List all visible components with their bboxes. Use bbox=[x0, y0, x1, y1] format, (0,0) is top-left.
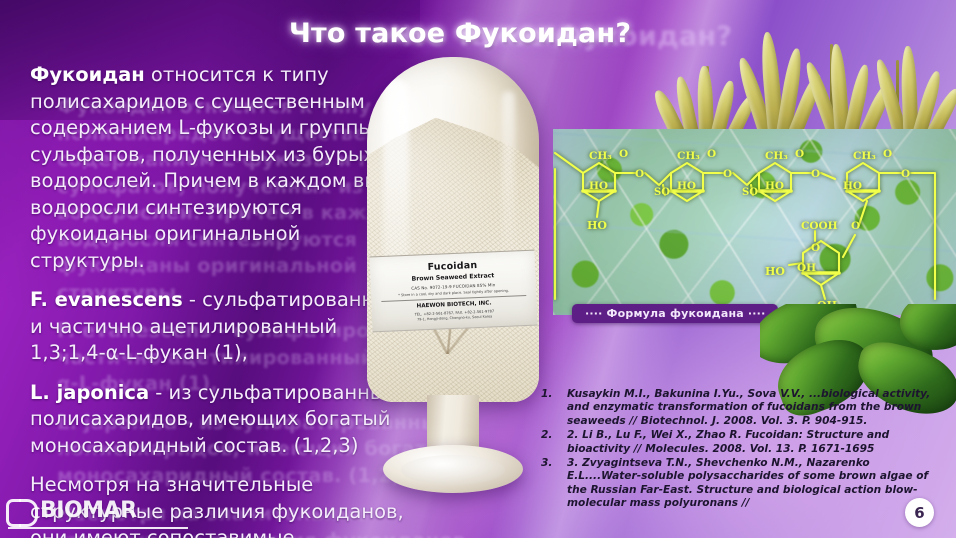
algae-microscopy-image: CH₃ O HO HO O SO CH₃ O HO O SO CH₃ O HO … bbox=[553, 129, 956, 315]
reference-item: 1. Kusaykin M.I., Bakunina I.Yu., Sova V… bbox=[537, 388, 937, 428]
jar-body bbox=[367, 57, 539, 402]
brown-seaweed-photo bbox=[640, 0, 956, 140]
atom-label-ho-6: HO bbox=[765, 265, 785, 278]
paragraph-0-text: относится к типу полисахаридов с существ… bbox=[30, 63, 403, 272]
reference-text: 2. Li B., Lu F., Wei X., Zhao R. Fucoida… bbox=[567, 429, 937, 456]
atom-label-so-2: SO bbox=[742, 187, 758, 198]
atom-label-o-7: O bbox=[883, 148, 892, 160]
atom-label-ho-5: HO bbox=[843, 180, 862, 192]
atom-label-o-2: O bbox=[635, 168, 644, 180]
biomar-watermark-text: BIOMAR bbox=[40, 498, 137, 523]
jar-highlight-right bbox=[502, 91, 515, 271]
biomar-logo-icon bbox=[6, 497, 38, 523]
page-title: Что такое Фукоидан? bbox=[289, 18, 631, 49]
jar-product-label: Fucoidan Brown Seaweed Extract CAS No. 9… bbox=[369, 250, 537, 333]
jar-foot-inner bbox=[401, 455, 505, 485]
atom-label-cooh: COOH bbox=[801, 220, 838, 232]
atom-label-o-4: O bbox=[723, 168, 732, 180]
atom-label-so-1: SO bbox=[654, 187, 670, 198]
atom-label-ch3-2: CH₃ bbox=[677, 150, 700, 162]
reference-number: 3. bbox=[537, 457, 567, 511]
atom-label-o-10: O bbox=[811, 242, 820, 254]
references-list: 1. Kusaykin M.I., Bakunina I.Yu., Sova V… bbox=[537, 388, 937, 512]
atom-label-oh-1: OH bbox=[797, 262, 816, 274]
biomar-watermark-rule bbox=[8, 527, 188, 529]
atom-label-ho-1: HO bbox=[589, 180, 608, 192]
page-number-badge: 6 bbox=[905, 498, 934, 527]
atom-label-ho-4: HO bbox=[765, 180, 784, 192]
reference-text: 3. Zvyagintseva T.N., Shevchenko N.M., N… bbox=[567, 457, 937, 511]
fucoidan-chemical-formula: CH₃ O HO HO O SO CH₃ O HO O SO CH₃ O HO … bbox=[553, 129, 956, 315]
reference-item: 2. 2. Li B., Lu F., Wei X., Zhao R. Fuco… bbox=[537, 429, 937, 456]
atom-label-o-1: O bbox=[619, 148, 628, 160]
atom-label-ch3-4: CH₃ bbox=[853, 150, 876, 162]
atom-label-ho-3: HO bbox=[677, 180, 696, 192]
slide-canvas: Фукоидан относится к типу полисахаридов … bbox=[0, 0, 956, 538]
atom-label-o-3: O bbox=[707, 148, 716, 160]
reference-number: 2. bbox=[537, 429, 567, 456]
reference-item: 3. 3. Zvyagintseva T.N., Shevchenko N.M.… bbox=[537, 457, 937, 511]
atom-label-ch3-3: CH₃ bbox=[765, 150, 788, 162]
formula-caption: ···· Формула фукоидана ···· bbox=[572, 304, 778, 323]
body-copy: Фукоидан относится к типу полисахаридов … bbox=[30, 62, 410, 538]
reference-number: 1. bbox=[537, 388, 567, 428]
atom-label-ch3-1: CH₃ bbox=[589, 150, 612, 162]
paragraph-0-lead: Фукоидан bbox=[30, 63, 145, 86]
biomar-watermark: BIOMAR bbox=[6, 487, 192, 533]
paragraph-1: F. evanescens - сульфатированный и части… bbox=[30, 287, 410, 367]
label-product-name: Fucoidan bbox=[427, 260, 477, 274]
atom-label-o-8: O bbox=[901, 168, 910, 180]
paragraph-0: Фукоидан относится к типу полисахаридов … bbox=[30, 62, 410, 274]
label-product-subtitle: Brown Seaweed Extract bbox=[411, 272, 494, 283]
fucoidan-powder-jar: Fucoidan Brown Seaweed Extract CAS No. 9… bbox=[355, 57, 551, 477]
paragraph-2: L. japonica - из сульфатированных полиса… bbox=[30, 380, 410, 460]
paragraph-2-lead: L. japonica bbox=[30, 381, 149, 404]
atom-label-o-9: O bbox=[851, 220, 860, 232]
paragraph-1-lead: F. evanescens bbox=[30, 288, 183, 311]
reference-text: Kusaykin M.I., Bakunina I.Yu., Sova V.V.… bbox=[567, 388, 937, 428]
atom-label-ho-2: HO bbox=[587, 219, 607, 232]
atom-label-o-6: O bbox=[811, 168, 820, 180]
atom-label-o-5: O bbox=[795, 148, 804, 160]
